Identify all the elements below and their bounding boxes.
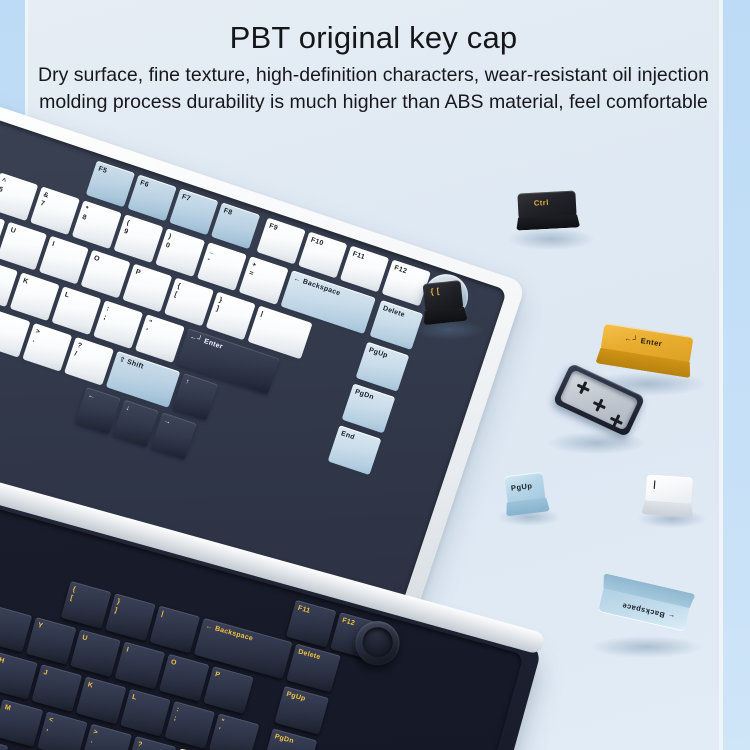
ctrl-keycap-legend: Ctrl [534,198,549,208]
bracket-keycap-legend: { [ [430,286,440,296]
product-banner: PBT original key cap Dry surface, fine t… [0,0,750,750]
inverted-keycap-shadow [548,432,646,454]
floating-keycap-ctrl[interactable]: Ctrl [517,191,576,220]
page-title: PBT original key cap [28,18,719,58]
ctrl-keycap-shadow [508,228,594,250]
cherry-stem-icon [575,379,592,396]
floating-keycap-pgup[interactable]: PgUp [504,472,545,504]
header-block: PBT original key cap Dry surface, fine t… [28,18,719,116]
cherry-stem-icon [591,396,608,413]
floating-keycap-pipe[interactable]: | [645,474,693,505]
right-separator-line [719,0,723,750]
backspace-keycap-shadow [590,636,702,658]
right-color-band [723,0,750,750]
page-subtitle: Dry surface, fine texture, high-definiti… [28,62,719,116]
floating-keycap-bracket[interactable]: { [ [423,280,464,313]
